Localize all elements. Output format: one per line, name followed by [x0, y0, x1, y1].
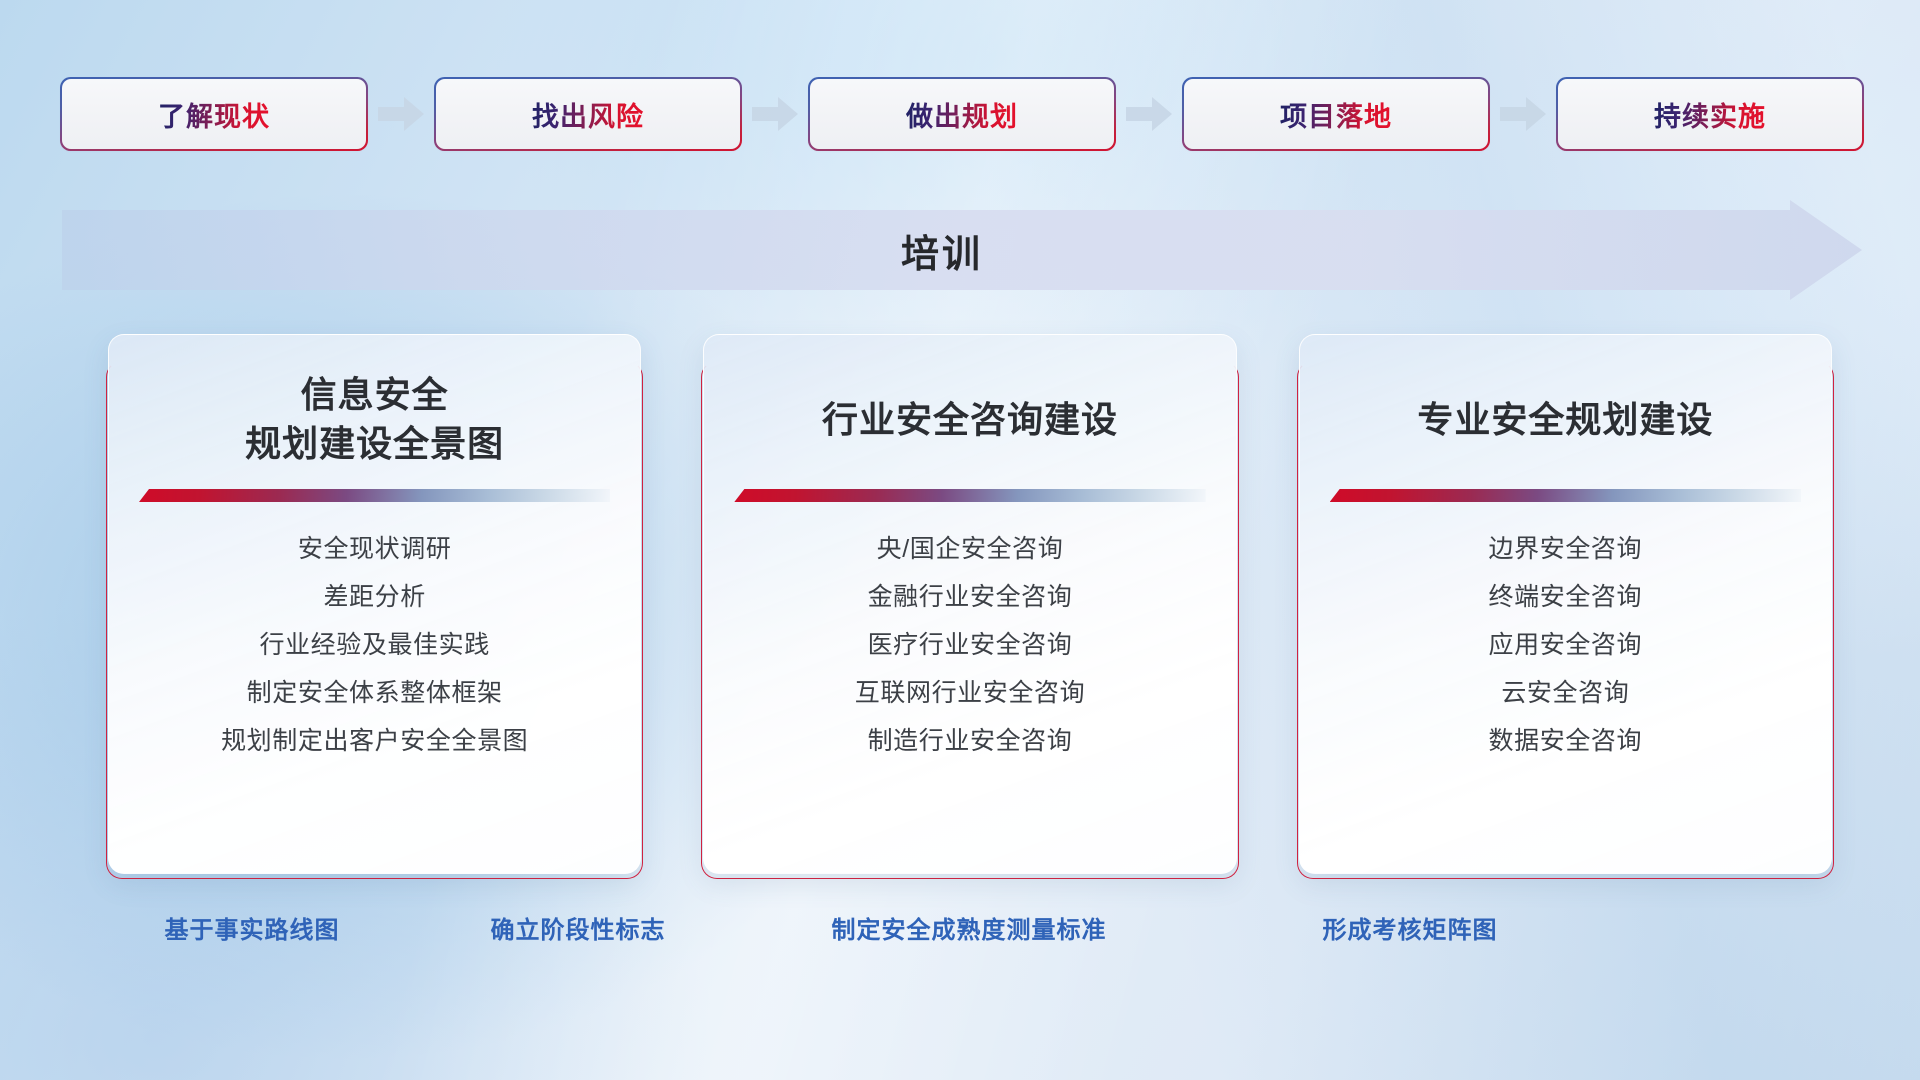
outcome-label-2: 确立阶段性标志: [491, 910, 666, 945]
outcome-label-4: 形成考核矩阵图: [1323, 910, 1498, 945]
outcome-label-3: 制定安全成熟度测量标准: [832, 910, 1107, 945]
card-title-3: 专业安全规划建设: [1417, 369, 1713, 471]
step-label-4: 项目落地: [1280, 95, 1392, 134]
slide-canvas: 了解现状 找出风险 做出规划 项目落地: [0, 0, 1920, 1080]
step-box-1[interactable]: 了解现状: [62, 79, 366, 149]
card-title-1: 信息安全 规划建设全景图: [245, 369, 504, 471]
card-divider-1: [139, 489, 610, 502]
capability-card-3[interactable]: 专业安全规划建设 边界安全咨询 终端安全咨询 应用安全咨询 云安全咨询 数据安全…: [1299, 334, 1832, 874]
process-step-row: 了解现状 找出风险 做出规划 项目落地: [62, 78, 1862, 150]
list-item[interactable]: 制定安全体系整体框架: [247, 678, 503, 708]
step-box-2[interactable]: 找出风险: [436, 79, 740, 149]
list-item[interactable]: 制造行业安全咨询: [868, 726, 1073, 756]
outcome-label-1: 基于事实路线图: [165, 910, 340, 945]
step-box-5[interactable]: 持续实施: [1558, 79, 1862, 149]
list-item[interactable]: 规划制定出客户安全全景图: [221, 726, 528, 756]
step-arrow-2: [740, 97, 810, 131]
step-label-5: 持续实施: [1654, 95, 1766, 134]
list-item[interactable]: 应用安全咨询: [1489, 630, 1643, 660]
list-item[interactable]: 医疗行业安全咨询: [868, 630, 1073, 660]
list-item[interactable]: 行业经验及最佳实践: [259, 630, 489, 660]
card-list-1: 安全现状调研 差距分析 行业经验及最佳实践 制定安全体系整体框架 规划制定出客户…: [139, 534, 610, 756]
list-item[interactable]: 边界安全咨询: [1489, 534, 1643, 564]
list-item[interactable]: 安全现状调研: [298, 534, 452, 564]
capability-card-2[interactable]: 行业安全咨询建设 央/国企安全咨询 金融行业安全咨询 医疗行业安全咨询 互联网行…: [703, 334, 1236, 874]
list-item[interactable]: 终端安全咨询: [1489, 582, 1643, 612]
card-list-3: 边界安全咨询 终端安全咨询 应用安全咨询 云安全咨询 数据安全咨询: [1330, 534, 1801, 756]
training-banner-label: 培训: [62, 200, 1862, 300]
list-item[interactable]: 差距分析: [323, 582, 425, 612]
card-divider-3: [1330, 489, 1801, 502]
list-item[interactable]: 数据安全咨询: [1489, 726, 1643, 756]
card-title-2: 行业安全咨询建设: [822, 369, 1118, 471]
step-box-3[interactable]: 做出规划: [810, 79, 1114, 149]
step-label-1: 了解现状: [158, 95, 270, 134]
list-item[interactable]: 云安全咨询: [1501, 678, 1629, 708]
step-arrow-3: [1114, 97, 1184, 131]
training-banner: 培训: [62, 200, 1862, 300]
outcome-label-row: 基于事实路线图 确立阶段性标志 制定安全成熟度测量标准 形成考核矩阵图: [0, 910, 1920, 960]
list-item[interactable]: 金融行业安全咨询: [868, 582, 1073, 612]
step-arrow-1: [366, 97, 436, 131]
step-box-4[interactable]: 项目落地: [1184, 79, 1488, 149]
step-label-2: 找出风险: [532, 95, 644, 134]
capability-card-row: 信息安全 规划建设全景图 安全现状调研 差距分析 行业经验及最佳实践 制定安全体…: [108, 334, 1832, 874]
card-list-2: 央/国企安全咨询 金融行业安全咨询 医疗行业安全咨询 互联网行业安全咨询 制造行…: [734, 534, 1205, 756]
list-item[interactable]: 互联网行业安全咨询: [855, 678, 1085, 708]
capability-card-1[interactable]: 信息安全 规划建设全景图 安全现状调研 差距分析 行业经验及最佳实践 制定安全体…: [108, 334, 641, 874]
list-item[interactable]: 央/国企安全咨询: [877, 534, 1064, 564]
step-arrow-4: [1488, 97, 1558, 131]
card-divider-2: [734, 489, 1205, 502]
step-label-3: 做出规划: [906, 95, 1018, 134]
